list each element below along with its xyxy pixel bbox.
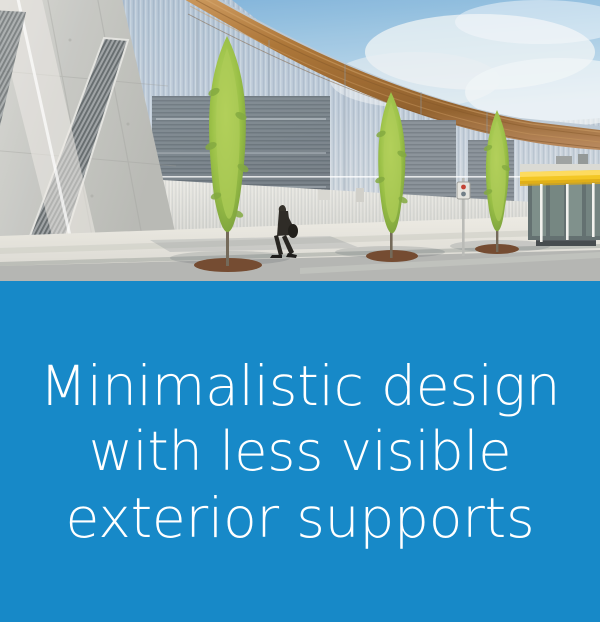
caption-line-3: exterior supports	[40, 485, 561, 551]
caption-line-1: Minimalistic design	[40, 353, 561, 419]
feature-card: Minimalistic design with less visible ex…	[0, 0, 600, 622]
caption-block: Minimalistic design with less visible ex…	[0, 281, 600, 622]
building-photo	[0, 0, 600, 281]
caption-line-2: with less visible	[40, 419, 561, 485]
building-photo-illustration	[0, 0, 600, 281]
caption-headline: Minimalistic design with less visible ex…	[40, 353, 561, 551]
